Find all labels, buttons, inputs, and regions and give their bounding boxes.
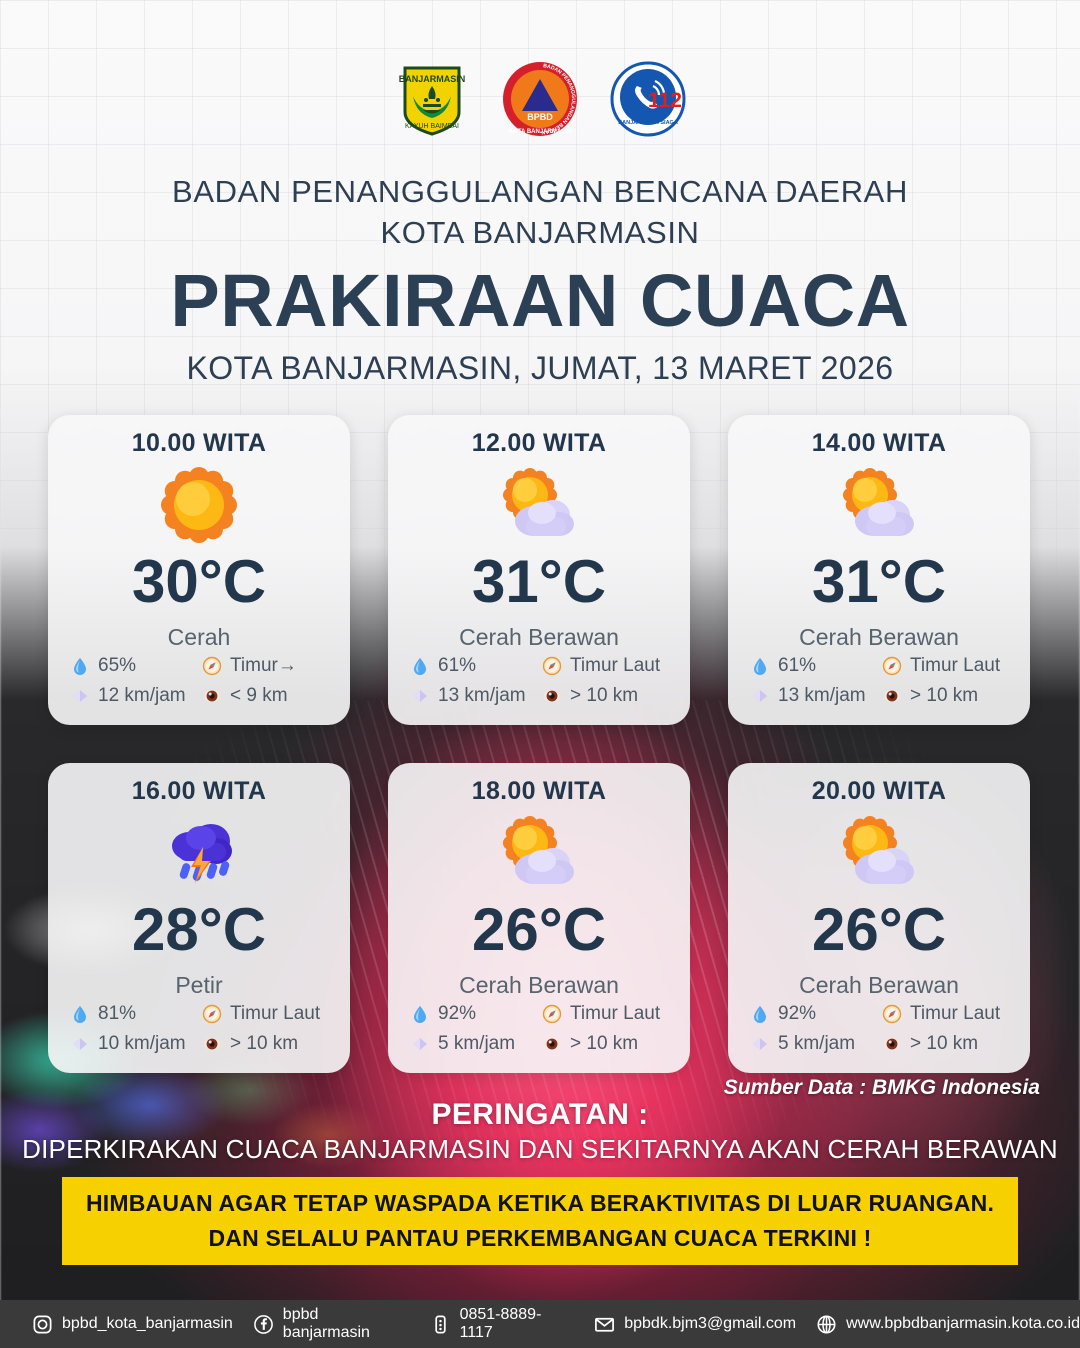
wind-speed-metric: 5 km/jam <box>750 1033 882 1055</box>
sun-cloud-icon <box>836 813 922 893</box>
humidity-metric: 92% <box>750 1003 882 1025</box>
visibility-value: > 10 km <box>910 1033 978 1055</box>
compass-icon <box>202 656 222 676</box>
eye-icon <box>882 686 902 706</box>
wind-direction-value: Timur→ <box>230 655 297 677</box>
visibility-value: > 10 km <box>230 1033 298 1055</box>
forecast-temperature: 26°C <box>728 900 1030 960</box>
eye-icon <box>202 1034 222 1054</box>
compass-icon <box>882 1004 902 1024</box>
humidity-metric: 92% <box>410 1003 542 1025</box>
wind-icon <box>750 1034 770 1054</box>
humidity-value: 61% <box>778 655 816 677</box>
sun-cloud-icon <box>388 462 690 548</box>
wind-direction-value: Timur Laut <box>570 1003 660 1025</box>
sun-cloud-icon <box>728 462 1030 548</box>
forecast-time: 14.00 WITA <box>728 415 1030 458</box>
humidity-value: 92% <box>438 1003 476 1025</box>
eye-icon <box>882 1034 902 1054</box>
sun-cloud-icon <box>496 813 582 893</box>
notice-band: HIMBAUAN AGAR TETAP WASPADA KETIKA BERAK… <box>62 1177 1018 1265</box>
forecast-condition: Cerah Berawan <box>728 972 1030 999</box>
footer-contact-item[interactable]: bpbd banjarmasin <box>253 1306 410 1342</box>
footer-contact-text: www.bpbdbanjarmasin.kota.co.id <box>846 1315 1080 1333</box>
footer-contact-text: bpbdk.bjm3@gmail.com <box>624 1315 796 1333</box>
org-name-line2: KOTA BANJARMASIN <box>0 213 1080 254</box>
globe-icon <box>816 1314 837 1335</box>
droplet-icon <box>410 656 430 676</box>
svg-text:KAYUH BAIMBAI: KAYUH BAIMBAI <box>405 123 459 130</box>
humidity-value: 65% <box>98 655 136 677</box>
forecast-card-grid: 10.00 WITA 30°C Cerah 65% Timur→ 12 km/j… <box>48 415 1034 1073</box>
wind-direction-value: Timur Laut <box>910 1003 1000 1025</box>
wind-direction-metric: Timur Laut <box>542 655 674 677</box>
forecast-condition: Cerah Berawan <box>388 972 690 999</box>
notice-line-1: HIMBAUAN AGAR TETAP WASPADA KETIKA BERAK… <box>86 1190 994 1217</box>
wind-speed-metric: 10 km/jam <box>70 1033 202 1055</box>
forecast-condition: Cerah Berawan <box>728 624 1030 651</box>
svg-text:112: 112 <box>648 89 682 112</box>
sun-icon <box>48 462 350 548</box>
visibility-metric: > 10 km <box>542 685 674 707</box>
humidity-value: 61% <box>438 655 476 677</box>
wind-direction-metric: Timur Laut <box>882 655 1014 677</box>
footer-contact-text: 0851-8889-1117 <box>460 1306 575 1342</box>
forecast-metrics: 61% Timur Laut 13 km/jam > 10 km <box>410 655 674 707</box>
visibility-value: > 10 km <box>910 685 978 707</box>
humidity-value: 81% <box>98 1003 136 1025</box>
wind-speed-metric: 13 km/jam <box>750 685 882 707</box>
wind-direction-metric: Timur Laut <box>882 1003 1014 1025</box>
forecast-metrics: 81% Timur Laut 10 km/jam > 10 km <box>70 1003 334 1055</box>
wind-icon <box>410 686 430 706</box>
droplet-icon <box>70 656 90 676</box>
visibility-metric: > 10 km <box>882 685 1014 707</box>
eye-icon <box>542 1034 562 1054</box>
bpbd-logo-icon: BPBD BADAN PENANGGULANGAN BENCANA DAERAH… <box>501 60 579 138</box>
eye-icon <box>202 686 222 706</box>
droplet-icon <box>70 1004 90 1024</box>
wind-direction-metric: Timur Laut <box>542 1003 674 1025</box>
forecast-condition: Cerah <box>48 624 350 651</box>
humidity-metric: 65% <box>70 655 202 677</box>
eye-icon <box>542 686 562 706</box>
wind-direction-value: Timur Laut <box>570 655 660 677</box>
sun-cloud-icon <box>728 810 1030 896</box>
forecast-condition: Cerah Berawan <box>388 624 690 651</box>
logo-row: BANJARMASIN KAYUH BAIMBAI BPBD BADAN PEN… <box>0 60 1080 138</box>
forecast-metrics: 61% Timur Laut 13 km/jam > 10 km <box>750 655 1014 707</box>
wind-direction-value: Timur Laut <box>230 1003 320 1025</box>
facebook-icon <box>253 1314 274 1335</box>
email-icon <box>594 1314 615 1335</box>
visibility-metric: < 9 km <box>202 685 334 707</box>
page-subtitle: KOTA BANJARMASIN, JUMAT, 13 MARET 2026 <box>0 350 1080 387</box>
source-note: Sumber Data : BMKG Indonesia <box>0 1076 1040 1100</box>
forecast-time: 18.00 WITA <box>388 763 690 806</box>
humidity-metric: 81% <box>70 1003 202 1025</box>
forecast-card: 16.00 WITA 28°C Petir 81% Timur Laut 10 … <box>48 763 350 1073</box>
warning-title: PERINGATAN : <box>0 1098 1080 1132</box>
humidity-metric: 61% <box>410 655 542 677</box>
wind-icon <box>410 1034 430 1054</box>
notice-line-2: DAN SELALU PANTAU PERKEMBANGAN CUACA TER… <box>209 1225 872 1252</box>
thunderstorm-icon <box>48 810 350 896</box>
visibility-metric: > 10 km <box>202 1033 334 1055</box>
wind-speed-metric: 12 km/jam <box>70 685 202 707</box>
wind-icon <box>70 686 90 706</box>
forecast-temperature: 31°C <box>388 552 690 612</box>
compass-icon <box>542 1004 562 1024</box>
svg-text:KOTA BANJARMASIN: KOTA BANJARMASIN <box>509 129 571 135</box>
footer-contact-item[interactable]: bpbd_kota_banjarmasin <box>32 1314 233 1335</box>
wind-speed-value: 10 km/jam <box>98 1033 186 1055</box>
call-112-logo-icon: 112 BANJARMASIN SIAGA <box>609 60 687 138</box>
forecast-metrics: 92% Timur Laut 5 km/jam > 10 km <box>410 1003 674 1055</box>
wind-speed-value: 13 km/jam <box>438 685 526 707</box>
wind-speed-metric: 13 km/jam <box>410 685 542 707</box>
droplet-icon <box>750 656 770 676</box>
warning-text: DIPERKIRAKAN CUACA BANJARMASIN DAN SEKIT… <box>0 1134 1080 1165</box>
wind-speed-metric: 5 km/jam <box>410 1033 542 1055</box>
footer-contact-text: bpbd_kota_banjarmasin <box>62 1315 233 1333</box>
page-title: PRAKIRAAN CUACA <box>0 258 1080 343</box>
sun-icon <box>159 465 239 545</box>
wind-speed-value: 13 km/jam <box>778 685 866 707</box>
visibility-metric: > 10 km <box>882 1033 1014 1055</box>
wind-speed-value: 5 km/jam <box>438 1033 515 1055</box>
thunderstorm-icon <box>156 813 242 893</box>
instagram-icon <box>32 1314 53 1335</box>
organization-name: BADAN PENANGGULANGAN BENCANA DAERAH KOTA… <box>0 172 1080 254</box>
poster: BANJARMASIN KAYUH BAIMBAI BPBD BADAN PEN… <box>0 0 1080 1348</box>
sun-cloud-icon <box>496 465 582 545</box>
compass-icon <box>202 1004 222 1024</box>
forecast-time: 20.00 WITA <box>728 763 1030 806</box>
banjarmasin-city-emblem-icon: BANJARMASIN KAYUH BAIMBAI <box>393 60 471 138</box>
forecast-time: 10.00 WITA <box>48 415 350 458</box>
humidity-metric: 61% <box>750 655 882 677</box>
visibility-value: < 9 km <box>230 685 288 707</box>
compass-icon <box>542 656 562 676</box>
org-name-line1: BADAN PENANGGULANGAN BENCANA DAERAH <box>0 172 1080 213</box>
svg-text:BPBD: BPBD <box>527 112 553 122</box>
wind-icon <box>70 1034 90 1054</box>
humidity-value: 92% <box>778 1003 816 1025</box>
forecast-temperature: 31°C <box>728 552 1030 612</box>
forecast-card: 12.00 WITA 31°C Cerah Berawan 61% Timur … <box>388 415 690 725</box>
forecast-temperature: 30°C <box>48 552 350 612</box>
forecast-temperature: 26°C <box>388 900 690 960</box>
svg-text:BANJARMASIN: BANJARMASIN <box>399 74 466 84</box>
forecast-metrics: 92% Timur Laut 5 km/jam > 10 km <box>750 1003 1014 1055</box>
forecast-time: 16.00 WITA <box>48 763 350 806</box>
footer-contact-text: bpbd banjarmasin <box>283 1306 410 1342</box>
visibility-metric: > 10 km <box>542 1033 674 1055</box>
forecast-temperature: 28°C <box>48 900 350 960</box>
forecast-card: 20.00 WITA 26°C Cerah Berawan 92% Timur … <box>728 763 1030 1073</box>
wind-speed-value: 12 km/jam <box>98 685 186 707</box>
visibility-value: > 10 km <box>570 1033 638 1055</box>
contact-footer: bpbd_kota_banjarmasin bpbd banjarmasin 0… <box>0 1300 1080 1348</box>
sun-cloud-icon <box>388 810 690 896</box>
droplet-icon <box>410 1004 430 1024</box>
compass-icon <box>882 656 902 676</box>
sun-cloud-icon <box>836 465 922 545</box>
footer-contact-item[interactable]: www.bpbdbanjarmasin.kota.co.id <box>816 1314 1080 1335</box>
phone-icon <box>430 1314 451 1335</box>
svg-text:BANJARMASIN SIAGA: BANJARMASIN SIAGA <box>618 120 678 126</box>
forecast-card: 10.00 WITA 30°C Cerah 65% Timur→ 12 km/j… <box>48 415 350 725</box>
forecast-card: 18.00 WITA 26°C Cerah Berawan 92% Timur … <box>388 763 690 1073</box>
forecast-metrics: 65% Timur→ 12 km/jam < 9 km <box>70 655 334 707</box>
forecast-condition: Petir <box>48 972 350 999</box>
forecast-card: 14.00 WITA 31°C Cerah Berawan 61% Timur … <box>728 415 1030 725</box>
visibility-value: > 10 km <box>570 685 638 707</box>
wind-icon <box>750 686 770 706</box>
wind-direction-metric: Timur→ <box>202 655 334 677</box>
wind-direction-metric: Timur Laut <box>202 1003 334 1025</box>
droplet-icon <box>750 1004 770 1024</box>
wind-direction-value: Timur Laut <box>910 655 1000 677</box>
footer-contact-item[interactable]: bpbdk.bjm3@gmail.com <box>594 1314 796 1335</box>
forecast-time: 12.00 WITA <box>388 415 690 458</box>
footer-contact-item[interactable]: 0851-8889-1117 <box>430 1306 575 1342</box>
wind-speed-value: 5 km/jam <box>778 1033 855 1055</box>
